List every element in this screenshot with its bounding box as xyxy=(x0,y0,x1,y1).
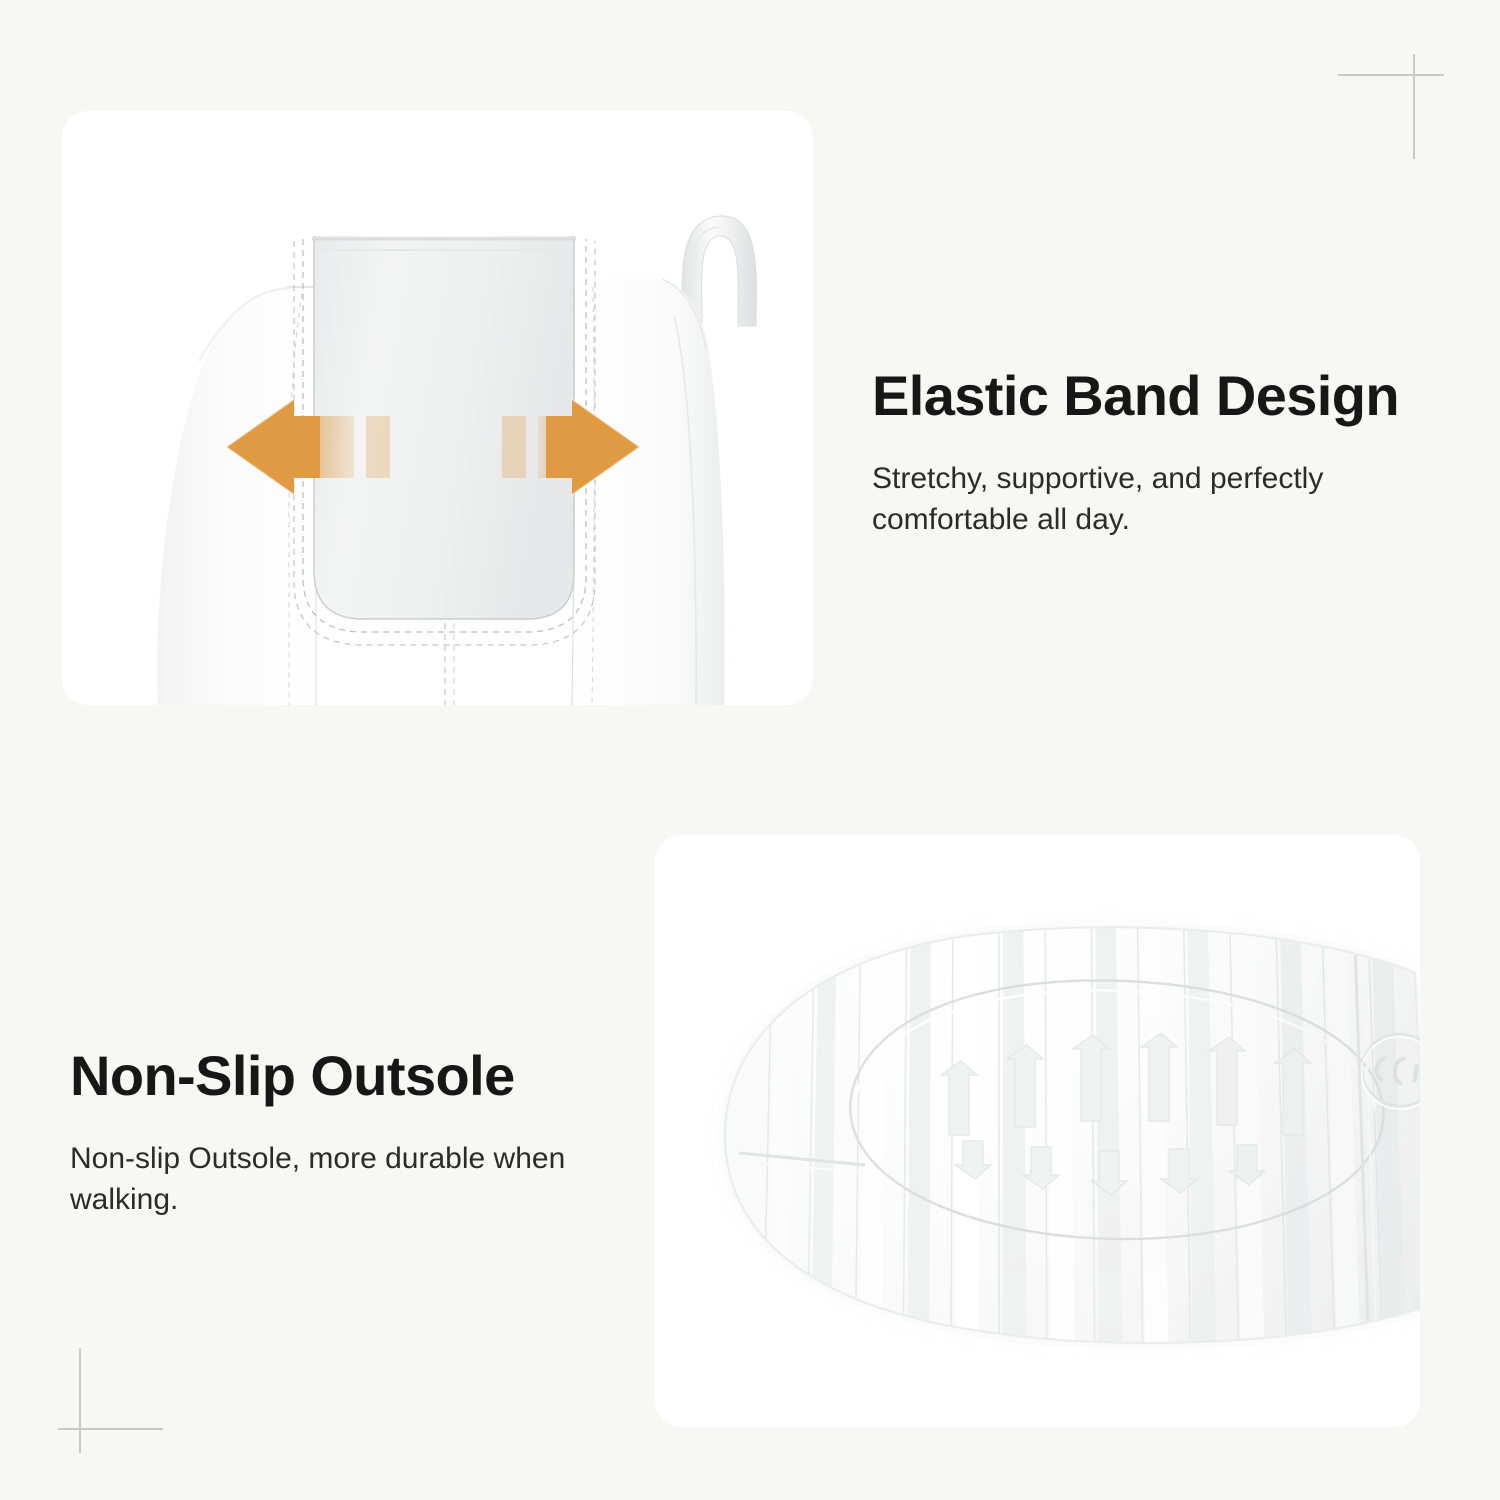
crosshair-horizontal-line xyxy=(1338,74,1444,76)
elastic-band-text-block: Elastic Band Design Stretchy, supportive… xyxy=(872,368,1457,541)
outsole-subcopy: Non-slip Outsole, more durable when walk… xyxy=(70,1138,650,1221)
outsole-headline: Non-Slip Outsole xyxy=(70,1048,650,1104)
elastic-band-image-card xyxy=(62,111,813,705)
chelsea-boot-illustration xyxy=(62,111,813,705)
outsole-text-block: Non-Slip Outsole Non-slip Outsole, more … xyxy=(70,1048,650,1221)
elastic-band-subcopy: Stretchy, supportive, and perfectly comf… xyxy=(872,458,1457,541)
product-feature-collage: Elastic Band Design Stretchy, supportive… xyxy=(0,0,1500,1500)
center-vamp-seam xyxy=(445,623,454,705)
stretch-fade-bar xyxy=(366,416,390,478)
outsole-image-card xyxy=(655,835,1420,1427)
crosshair-horizontal-line xyxy=(58,1428,163,1430)
stretch-fade-bar xyxy=(502,416,526,478)
elastic-band-headline: Elastic Band Design xyxy=(872,368,1457,424)
boot-left-quarter-leather xyxy=(157,287,330,705)
crosshair-vertical-line xyxy=(79,1348,81,1453)
crosshair-vertical-line xyxy=(1413,54,1415,159)
boot-outsole-illustration xyxy=(655,835,1420,1427)
